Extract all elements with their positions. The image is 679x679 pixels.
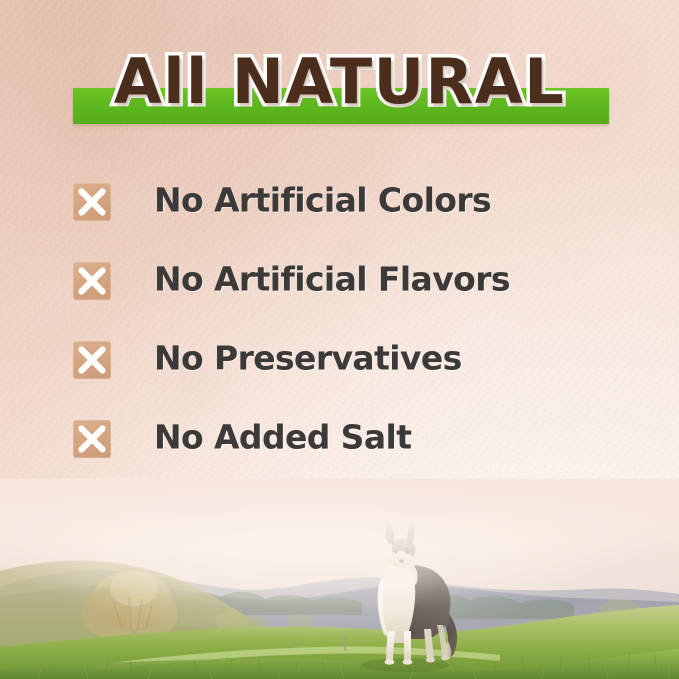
claims-list: No Artificial Colors No Artificial Flavo… [0,160,679,476]
list-item: No Added Salt [0,397,679,476]
list-item: No Artificial Flavors [0,239,679,318]
landscape-photo [0,479,679,679]
list-item: No Artificial Colors [0,160,679,239]
list-item: No Preservatives [0,318,679,397]
claim-label: No Preservatives [154,338,462,377]
x-mark-icon [73,341,111,379]
claim-label: No Artificial Flavors [154,259,510,298]
x-mark-icon [73,262,111,300]
headline-banner: All NATURAL [0,40,679,140]
claim-label: No Added Salt [154,417,411,456]
x-mark-icon [73,420,111,458]
claim-label: No Artificial Colors [154,180,491,219]
page-title: All NATURAL [0,40,679,124]
all-natural-product-poster: All NATURAL No Artificial Colors [0,0,679,679]
x-mark-icon [73,183,111,221]
